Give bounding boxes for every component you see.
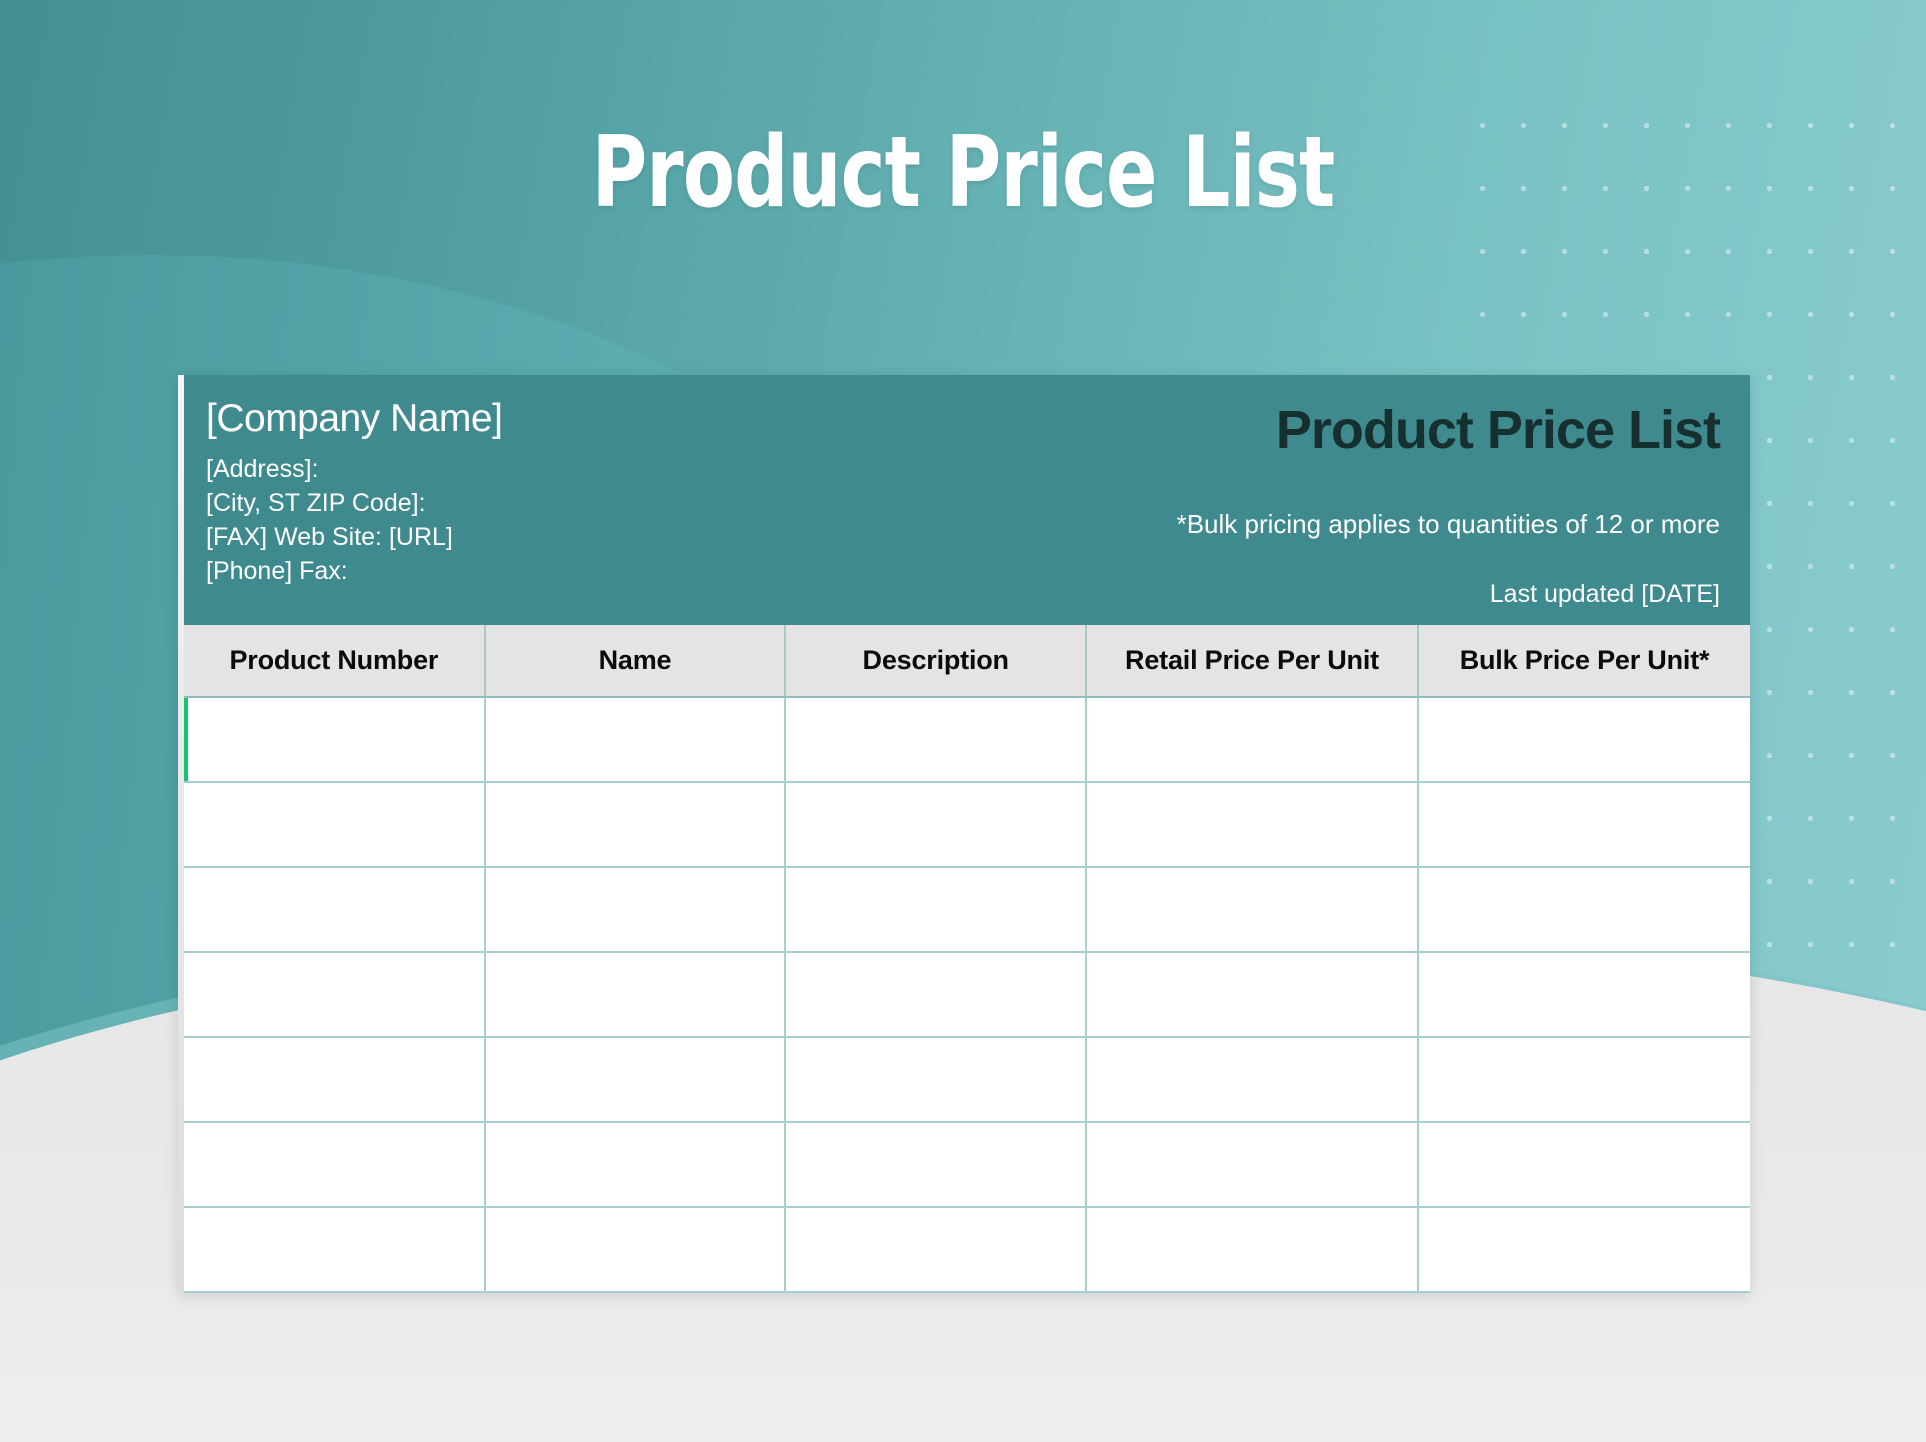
column-header-name[interactable]: Name <box>485 625 786 697</box>
company-info-block: [Company Name] [Address]: [City, ST ZIP … <box>206 399 993 609</box>
table-row[interactable] <box>184 867 1750 952</box>
cell-description[interactable] <box>785 697 1086 782</box>
cell-product-number[interactable] <box>184 782 485 867</box>
company-fax-website[interactable]: [FAX] Web Site: [URL] <box>206 520 993 554</box>
price-list-document: [Company Name] [Address]: [City, ST ZIP … <box>178 375 1750 1293</box>
cell-description[interactable] <box>785 1122 1086 1207</box>
cell-bulk-price[interactable] <box>1418 782 1750 867</box>
cell-bulk-price[interactable] <box>1418 867 1750 952</box>
cell-name[interactable] <box>485 1037 786 1122</box>
document-left-gutter <box>178 375 184 1293</box>
column-header-bulk-price[interactable]: Bulk Price Per Unit* <box>1418 625 1750 697</box>
cell-retail-price[interactable] <box>1086 1207 1418 1292</box>
company-address[interactable]: [Address]: <box>206 452 993 486</box>
company-phone-fax[interactable]: [Phone] Fax: <box>206 554 993 588</box>
table-row[interactable] <box>184 697 1750 782</box>
cell-name[interactable] <box>485 952 786 1037</box>
document-heading-block: Product Price List *Bulk pricing applies… <box>993 399 1720 609</box>
cell-description[interactable] <box>785 1037 1086 1122</box>
cell-description[interactable] <box>785 782 1086 867</box>
cell-bulk-price[interactable] <box>1418 697 1750 782</box>
slide-canvas: Product Price List [Company Name] [Addre… <box>0 0 1926 1442</box>
cell-name[interactable] <box>485 782 786 867</box>
document-header-panel: [Company Name] [Address]: [City, ST ZIP … <box>184 375 1750 625</box>
table-row[interactable] <box>184 782 1750 867</box>
table-row[interactable] <box>184 1037 1750 1122</box>
cell-bulk-price[interactable] <box>1418 1037 1750 1122</box>
page-title: Product Price List <box>135 124 1791 222</box>
company-name[interactable]: [Company Name] <box>206 399 993 440</box>
cell-product-number[interactable] <box>184 1037 485 1122</box>
cell-name[interactable] <box>485 867 786 952</box>
column-header-product-number[interactable]: Product Number <box>184 625 485 697</box>
table-header-row: Product Number Name Description Retail P… <box>184 625 1750 697</box>
cell-retail-price[interactable] <box>1086 1122 1418 1207</box>
cell-product-number[interactable] <box>184 1207 485 1292</box>
column-header-description[interactable]: Description <box>785 625 1086 697</box>
cell-description[interactable] <box>785 952 1086 1037</box>
last-updated-label[interactable]: Last updated [DATE] <box>993 540 1720 609</box>
table-row[interactable] <box>184 1122 1750 1207</box>
cell-description[interactable] <box>785 867 1086 952</box>
cell-bulk-price[interactable] <box>1418 952 1750 1037</box>
price-table: Product Number Name Description Retail P… <box>184 625 1750 1293</box>
document-body: [Company Name] [Address]: [City, ST ZIP … <box>184 375 1750 1293</box>
cell-product-number[interactable] <box>184 952 485 1037</box>
table-body <box>184 697 1750 1292</box>
document-title: Product Price List <box>993 403 1720 457</box>
cell-retail-price[interactable] <box>1086 1037 1418 1122</box>
bulk-pricing-note: *Bulk pricing applies to quantities of 1… <box>993 509 1720 540</box>
cell-bulk-price[interactable] <box>1418 1207 1750 1292</box>
table-row[interactable] <box>184 1207 1750 1292</box>
cell-bulk-price[interactable] <box>1418 1122 1750 1207</box>
cell-name[interactable] <box>485 1207 786 1292</box>
cell-product-number[interactable] <box>184 697 485 782</box>
cell-name[interactable] <box>485 697 786 782</box>
cell-product-number[interactable] <box>184 867 485 952</box>
cell-retail-price[interactable] <box>1086 697 1418 782</box>
column-header-retail-price[interactable]: Retail Price Per Unit <box>1086 625 1418 697</box>
cell-retail-price[interactable] <box>1086 867 1418 952</box>
company-city-state-zip[interactable]: [City, ST ZIP Code]: <box>206 486 993 520</box>
cell-retail-price[interactable] <box>1086 782 1418 867</box>
cell-description[interactable] <box>785 1207 1086 1292</box>
table-row[interactable] <box>184 952 1750 1037</box>
cell-retail-price[interactable] <box>1086 952 1418 1037</box>
cell-name[interactable] <box>485 1122 786 1207</box>
cell-product-number[interactable] <box>184 1122 485 1207</box>
